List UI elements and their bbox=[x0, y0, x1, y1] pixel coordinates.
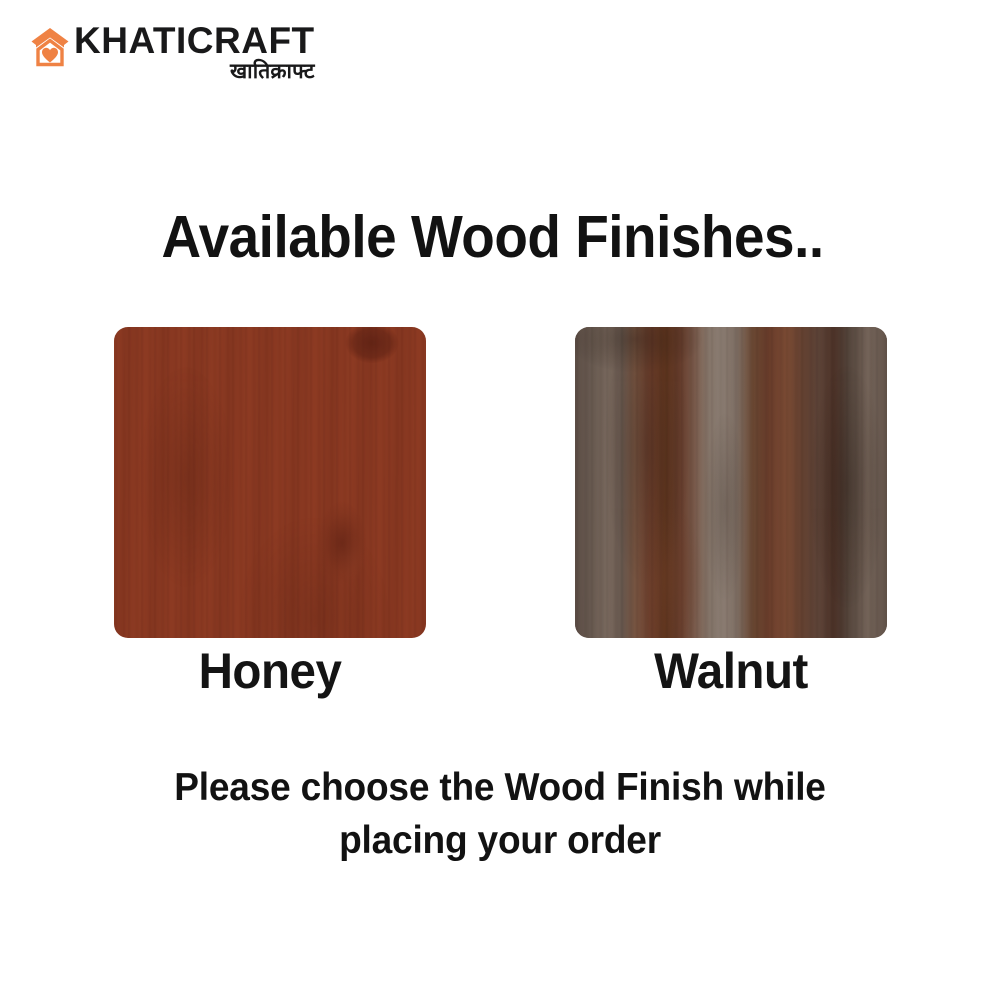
brand-logo[interactable]: KHATICRAFT खातिक्राफ्ट bbox=[30, 22, 315, 82]
walnut-grain-figure bbox=[575, 327, 887, 638]
brand-wordmark: KHATICRAFT bbox=[74, 22, 315, 59]
brand-subtitle-devanagari: खातिक्राफ्ट bbox=[230, 61, 315, 82]
finish-label-walnut: Walnut bbox=[583, 644, 879, 699]
finish-label-honey: Honey bbox=[122, 644, 418, 699]
honey-wood-swatch[interactable] bbox=[114, 327, 426, 638]
house-heart-icon bbox=[30, 26, 70, 68]
honey-grain-knots bbox=[114, 327, 426, 638]
note-line-1: Please choose the Wood Finish while bbox=[25, 762, 975, 815]
finish-swatch-row: Honey Walnut bbox=[0, 327, 1000, 697]
walnut-wood-swatch[interactable] bbox=[575, 327, 887, 638]
order-instruction-note: Please choose the Wood Finish while plac… bbox=[25, 762, 975, 867]
note-line-2: placing your order bbox=[25, 815, 975, 868]
wood-finishes-infographic: KHATICRAFT खातिक्राफ्ट Available Wood Fi… bbox=[0, 0, 1000, 1000]
page-title: Available Wood Finishes.. bbox=[35, 208, 965, 267]
finish-option-walnut[interactable]: Walnut bbox=[575, 327, 887, 699]
brand-text-block: KHATICRAFT खातिक्राफ्ट bbox=[74, 22, 315, 82]
finish-option-honey[interactable]: Honey bbox=[114, 327, 426, 699]
